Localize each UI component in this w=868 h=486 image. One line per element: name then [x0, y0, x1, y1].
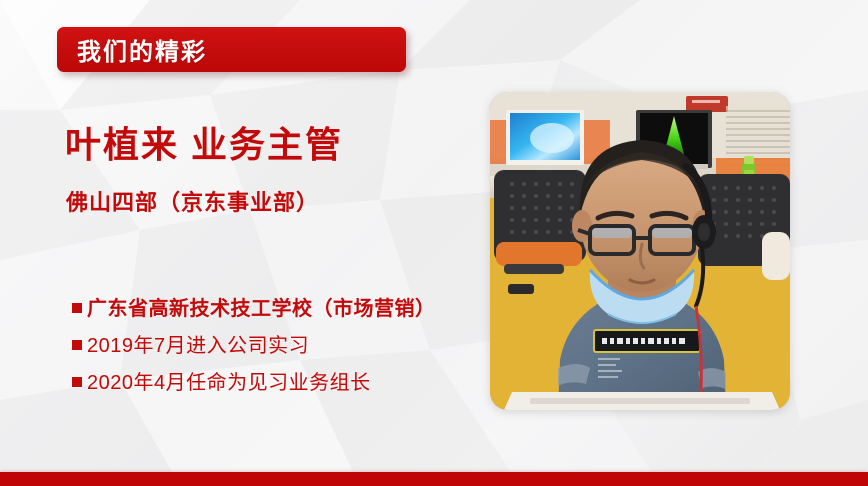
footer-accent-bar — [0, 472, 868, 486]
square-bullet-icon — [72, 340, 82, 350]
list-item-label: 2020年4月任命为见习业务组长 — [87, 366, 371, 395]
employee-photo-image — [490, 92, 790, 410]
list-item: 2020年4月任命为见习业务组长 — [72, 366, 492, 395]
achievement-list: 广东省高新技术技工学校（市场营销） 2019年7月进入公司实习 2020年4月任… — [72, 292, 492, 403]
page-title: 叶植来 业务主管 — [65, 116, 343, 168]
department-subtitle: 佛山四部（京东事业部） — [66, 185, 319, 217]
list-item: 2019年7月进入公司实习 — [72, 329, 492, 358]
list-item-label: 广东省高新技术技工学校（市场营销） — [87, 292, 436, 321]
header-banner: 我们的精彩 — [57, 27, 406, 72]
header-banner-label: 我们的精彩 — [77, 32, 207, 67]
slide-canvas: 我们的精彩 叶植来 业务主管 佛山四部（京东事业部） 广东省高新技术技工学校（市… — [0, 0, 868, 486]
list-item: 广东省高新技术技工学校（市场营销） — [72, 292, 492, 321]
square-bullet-icon — [72, 303, 82, 313]
employee-photo — [490, 92, 790, 410]
square-bullet-icon — [72, 377, 82, 387]
list-item-label: 2019年7月进入公司实习 — [87, 329, 309, 358]
